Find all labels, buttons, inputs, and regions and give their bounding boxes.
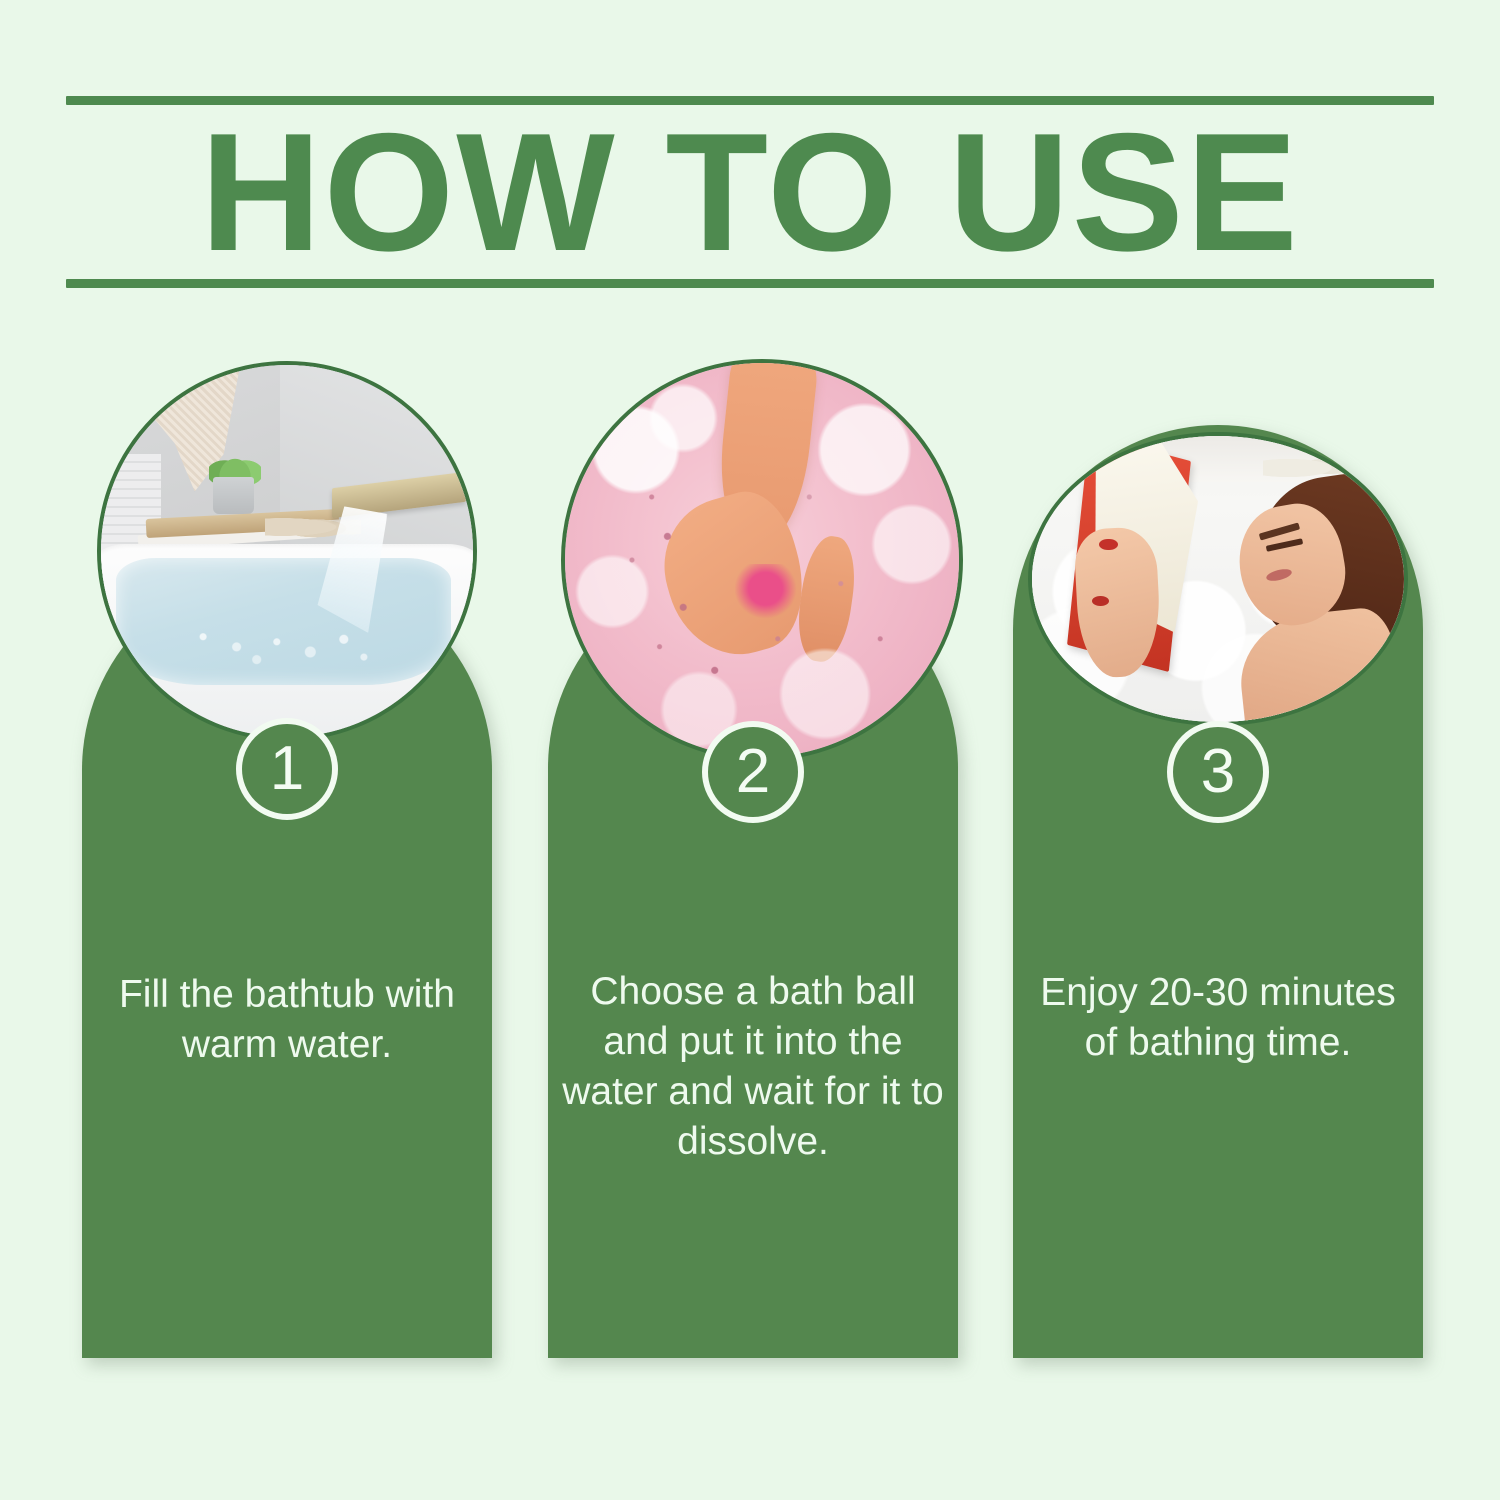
step-number-1: 1 (270, 738, 304, 800)
step-caption-2: Choose a bath ball and put it into the w… (558, 967, 948, 1167)
hand-in-pink-fizzy-bath-water-photo (561, 359, 963, 761)
bathtub-filling-with-water-photo (97, 361, 477, 741)
step-number-3: 3 (1201, 741, 1235, 803)
woman-reading-book-in-bubble-bath-photo (1028, 432, 1408, 726)
step-caption-1: Fill the bathtub with warm water. (92, 970, 482, 1070)
fizz-specks (565, 363, 959, 757)
step-card-2: 2 Choose a bath ball and put it into the… (548, 359, 958, 1358)
step-number-badge-2: 2 (702, 721, 804, 823)
step-number-badge-3: 3 (1167, 721, 1269, 823)
step-card-3: 3 Enjoy 20-30 minutes of bathing time. (1013, 425, 1423, 1358)
bath-water (116, 558, 451, 684)
step-number-badge-1: 1 (236, 718, 338, 820)
fingernail (1099, 539, 1118, 550)
step-number-2: 2 (736, 741, 770, 803)
steps-container: 1 Fill the bathtub with warm water. 2 Ch… (0, 0, 1500, 1500)
plant-pot (213, 477, 254, 514)
step-caption-3: Enjoy 20-30 minutes of bathing time. (1023, 968, 1413, 1068)
step-card-1: 1 Fill the bathtub with warm water. (82, 361, 492, 1358)
water-bubbles (116, 558, 451, 684)
